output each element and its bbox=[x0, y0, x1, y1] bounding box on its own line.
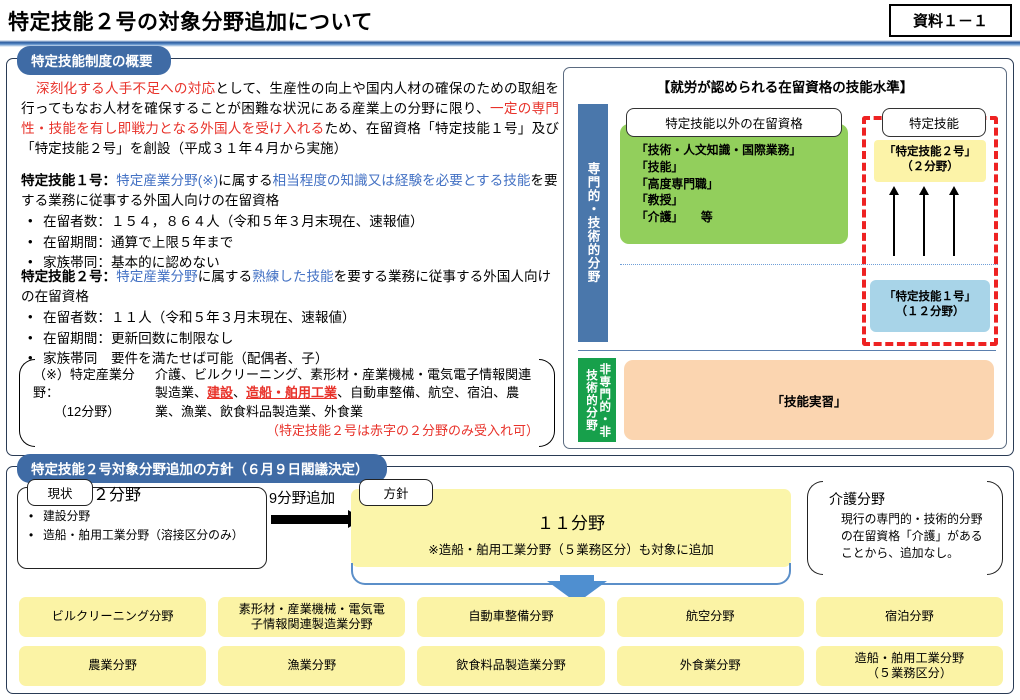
grade-1-plain-1: に属する bbox=[218, 173, 272, 188]
box-specified-skills-no2: 「特定技能２号」 （２分野） bbox=[874, 140, 986, 182]
added-fields-grid: ビルクリーニング分野 素形材・産業機械・電気電 子情報関連製造業分野 自動車整備… bbox=[19, 597, 1003, 686]
field-cell: 自動車整備分野 bbox=[417, 597, 604, 637]
current-field-count: ２分野 bbox=[93, 481, 141, 505]
footnote-label-line1: （※）特定産業分野： bbox=[33, 366, 155, 403]
overview-lead-paragraph: 深刻化する人手不足への対応として、生産性の向上や国内人材の確保のための取組を行っ… bbox=[21, 79, 559, 159]
nursing-care-note-box: 介護分野 現行の専門的・技術的分野の在留資格「介護」があることから、追加なし。 bbox=[807, 481, 1003, 575]
field-cell: 航空分野 bbox=[617, 597, 804, 637]
label-nonprofessional-field: 非専門的・非技術的分野 bbox=[578, 358, 616, 442]
footnote-red-note: （特定技能２号は赤字の２分野のみ受入れ可） bbox=[155, 422, 543, 440]
field-cell: 農業分野 bbox=[19, 646, 206, 686]
section-system-overview: 特定技能制度の概要 深刻化する人手不足への対応として、生産性の向上や国内人材の確… bbox=[6, 58, 1014, 456]
visa-item: 「介護」 等 bbox=[636, 209, 848, 226]
diagram-title: 【就労が認められる在留資格の技能水準】 bbox=[564, 76, 1006, 96]
grade-2-blue-1: 特定産業分野 bbox=[116, 269, 198, 284]
visa-item: 「教授」 bbox=[636, 192, 848, 209]
nursing-care-text: 現行の専門的・技術的分野の在留資格「介護」があることから、追加なし。 bbox=[841, 511, 991, 562]
document-reference-badge: 資料１－１ bbox=[889, 4, 1012, 37]
box-line-1: 「特定技能１号」 bbox=[870, 290, 990, 305]
list-item: 在留者数：１１人（令和５年３月末現在、速報値） bbox=[21, 308, 561, 328]
field-cell: 漁業分野 bbox=[218, 646, 405, 686]
tag-policy: 方針 bbox=[359, 479, 433, 506]
list-item: 造船・舶用工業分野（溶接区分のみ） bbox=[25, 526, 244, 545]
grade-1-heading: 特定技能１号： bbox=[21, 173, 116, 188]
grade-1-blue-1: 特定産業分野(※) bbox=[116, 173, 218, 188]
label-professional-field: 専門的・技術的分野 bbox=[578, 104, 608, 342]
policy-field-count: １１分野 bbox=[351, 509, 791, 534]
grade-2-plain-1: に属する bbox=[198, 269, 252, 284]
section-divider bbox=[578, 350, 996, 351]
grade-2-blue-2: 熟練した技能 bbox=[252, 269, 334, 284]
addition-count-label: 9分野追加 bbox=[269, 487, 335, 508]
grade-2-heading: 特定技能２号： bbox=[21, 269, 116, 284]
list-item: 在留期間：更新回数に制限なし bbox=[21, 329, 561, 349]
box-line-2: （２分野） bbox=[874, 160, 986, 175]
field-cell: ビルクリーニング分野 bbox=[19, 597, 206, 637]
footnote-red-field-1: 建設 bbox=[207, 385, 233, 400]
caption-other-status: 特定技能以外の在留資格 bbox=[626, 108, 842, 137]
grade-2-block: 特定技能２号：特定産業分野に属する熟練した技能を要する業務に従事する外国人向けの… bbox=[21, 267, 561, 370]
box-specified-skills-no1: 「特定技能１号」 （１２分野） bbox=[870, 280, 990, 332]
green-visa-list-box: 「技術・人文知識・国際業務」 「技能」 「高度専門職」 「教授」 「介護」 等 bbox=[620, 124, 848, 244]
box-line-1: 「特定技能２号」 bbox=[874, 145, 986, 160]
footnote-red-field-2: 造船・舶用工業 bbox=[246, 385, 337, 400]
grade-1-bullet-list: 在留者数：１５４，８６４人（令和５年３月末現在、速報値） 在留期間：通算で上限５… bbox=[21, 212, 561, 273]
field-cell: 宿泊分野 bbox=[816, 597, 1003, 637]
bracket-left bbox=[807, 481, 823, 575]
caption-specified-skills: 特定技能 bbox=[882, 108, 986, 137]
list-item: 建設分野 bbox=[25, 507, 244, 526]
section-overview-tab: 特定技能制度の概要 bbox=[17, 46, 171, 75]
list-item: 在留期間：通算で上限５年まで bbox=[21, 233, 561, 253]
footnote-separator: 、 bbox=[233, 385, 246, 400]
footnote-label-line2: （12分野） bbox=[33, 403, 155, 421]
transition-arrow-icon bbox=[271, 515, 349, 524]
skill-level-diagram: 【就労が認められる在留資格の技能水準】 専門的・技術的分野 非専門的・非技術的分… bbox=[563, 67, 1007, 449]
visa-item: 「技術・人文知識・国際業務」 bbox=[636, 142, 848, 159]
upgrade-arrow-icon bbox=[953, 194, 955, 256]
field-cell: 外食業分野 bbox=[617, 646, 804, 686]
visa-item: 「技能」 bbox=[636, 159, 848, 176]
box-technical-intern-training: 「技能実習」 bbox=[624, 360, 994, 440]
field-cell: 素形材・産業機械・電気電 子情報関連製造業分野 bbox=[218, 597, 405, 637]
tag-current-status: 現状 bbox=[27, 479, 93, 506]
grade-1-blue-2: 相当程度の知識又は経験を必要とする技能 bbox=[273, 173, 531, 188]
lead-highlight-1: 深刻化する人手不足への対応 bbox=[36, 81, 215, 96]
nursing-care-title: 介護分野 bbox=[829, 489, 885, 509]
upgrade-arrow-icon bbox=[923, 194, 925, 256]
current-field-list: 建設分野 造船・舶用工業分野（溶接区分のみ） bbox=[25, 507, 244, 545]
grade-1-block: 特定技能１号：特定産業分野(※)に属する相当程度の知識又は経験を必要とする技能を… bbox=[21, 171, 561, 274]
page-title: 特定技能２号の対象分野追加について bbox=[8, 6, 373, 36]
field-cell: 造船・舶用工業分野 （５業務区分） bbox=[816, 646, 1003, 686]
list-item: 在留者数：１５４，８６４人（令和５年３月末現在、速報値） bbox=[21, 212, 561, 232]
section-addition-policy: 特定技能２号対象分野追加の方針（６月９日閣議決定） 現状 ２分野 建設分野 造船… bbox=[6, 466, 1014, 694]
dotted-divider bbox=[620, 264, 998, 265]
visa-item: 「高度専門職」 bbox=[636, 176, 848, 193]
field-cell: 飲食料品製造業分野 bbox=[417, 646, 604, 686]
box-line-2: （１２分野） bbox=[870, 305, 990, 320]
policy-subnote: ※造船・舶用工業分野（５業務区分）も対象に追加 bbox=[351, 539, 791, 558]
footnote-industry-fields: （※）特定産業分野： （12分野） 介護、ビルクリーニング、素形材・産業機械・電… bbox=[19, 359, 555, 447]
upgrade-arrow-icon bbox=[893, 194, 895, 256]
